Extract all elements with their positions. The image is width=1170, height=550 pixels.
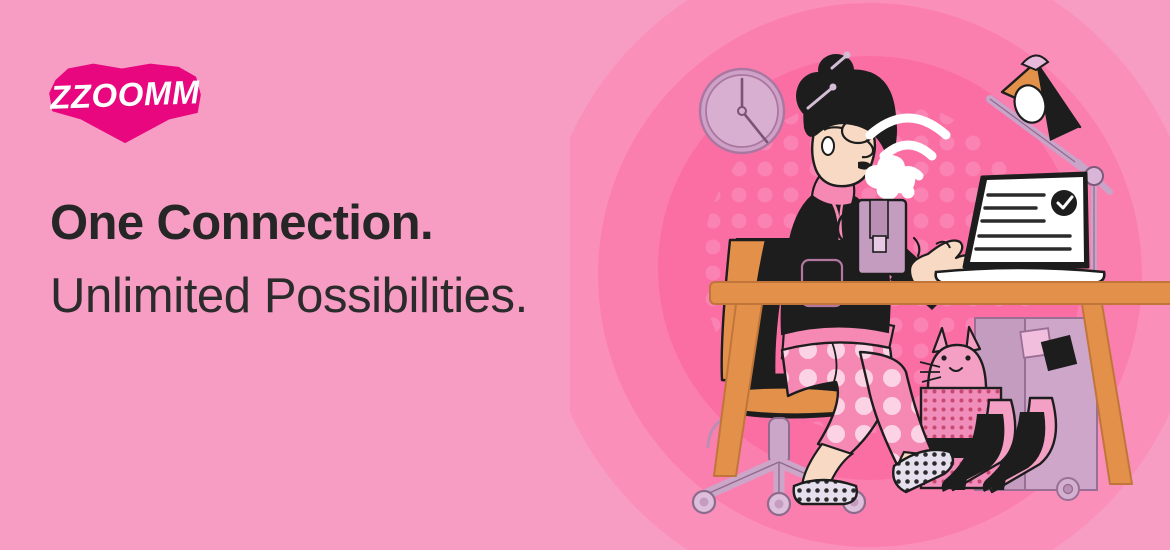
headline-line-2: Unlimited Possibilities. bbox=[50, 269, 650, 324]
document-checkmark-badge bbox=[1051, 190, 1077, 216]
hero-banner: ZZOOMM One Connection. Unlimited Possibi… bbox=[0, 0, 1170, 550]
wall-clock bbox=[700, 69, 784, 153]
workspace-illustration bbox=[570, 0, 1170, 550]
headline-block: One Connection. Unlimited Possibilities. bbox=[50, 196, 650, 324]
zzoomm-logo[interactable]: ZZOOMM bbox=[46, 62, 204, 144]
headline-line-1: One Connection. bbox=[50, 196, 650, 251]
logo-wordmark: ZZOOMM bbox=[45, 73, 204, 117]
